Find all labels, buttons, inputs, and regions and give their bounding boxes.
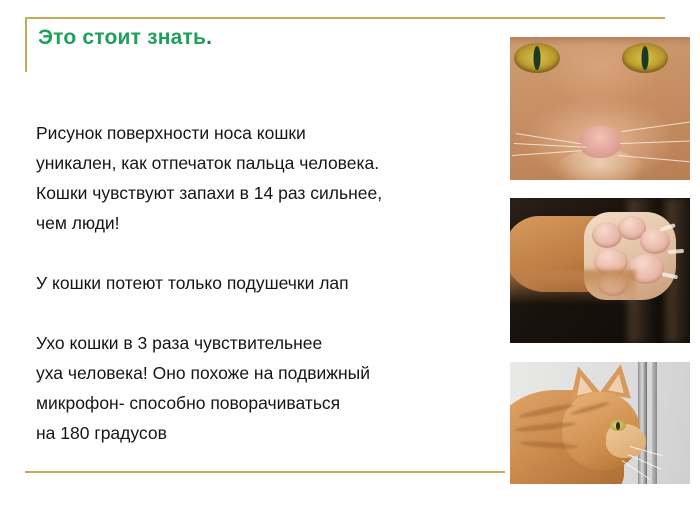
text-line: Кошки чувствуют запахи в 14 раз сильнее, <box>36 178 506 208</box>
cat-toe-pad <box>640 228 670 254</box>
photo-canvas <box>510 198 690 343</box>
text-line: чем люди! <box>36 208 506 238</box>
cat-right-pupil <box>642 46 649 70</box>
cat-right-eye <box>622 43 668 73</box>
page-title: Это стоит знать. <box>38 26 212 50</box>
text-line: Рисунок поверхности носа кошки <box>36 118 506 148</box>
page-title-period: . <box>206 26 212 49</box>
photo-canvas <box>510 362 690 484</box>
cat-face-closeup-photo <box>510 37 690 180</box>
photo-canvas <box>510 37 690 180</box>
cat-paw-photo <box>510 198 690 343</box>
frame-rule-bottom <box>25 471 505 473</box>
cat-left-pupil <box>534 46 541 70</box>
text-line: уникален, как отпечаток пальца человека. <box>36 148 506 178</box>
text-line: У кошки потеют только подушечки лап <box>36 268 506 298</box>
cat-nose <box>579 126 621 158</box>
text-line: на 180 градусов <box>36 418 506 448</box>
cat-left-eye <box>514 43 560 73</box>
text-line: Ухо кошки в 3 раза чувствительнее <box>36 328 506 358</box>
frame-rule-left <box>25 17 27 72</box>
paragraph-nose-fact: Рисунок поверхности носа кошки уникален,… <box>36 118 506 238</box>
body-text-block: Рисунок поверхности носа кошки уникален,… <box>36 118 506 448</box>
text-line: уха человека! Оно похоже на подвижный <box>36 358 506 388</box>
paragraph-ear-fact: Ухо кошки в 3 раза чувствительнее уха че… <box>36 328 506 448</box>
cat-profile-photo <box>510 362 690 484</box>
cat-pupil <box>616 422 620 430</box>
page-title-text: Это стоит знать <box>38 26 206 49</box>
paragraph-paw-fact: У кошки потеют только подушечки лап <box>36 268 506 298</box>
cat-ear-inner <box>608 373 627 394</box>
slide-canvas: Это стоит знать. Рисунок поверхности нос… <box>0 0 700 525</box>
text-line: микрофон- способно поворачиваться <box>36 388 506 418</box>
frame-rule-top <box>25 17 665 19</box>
cat-fur-edge <box>510 270 636 304</box>
